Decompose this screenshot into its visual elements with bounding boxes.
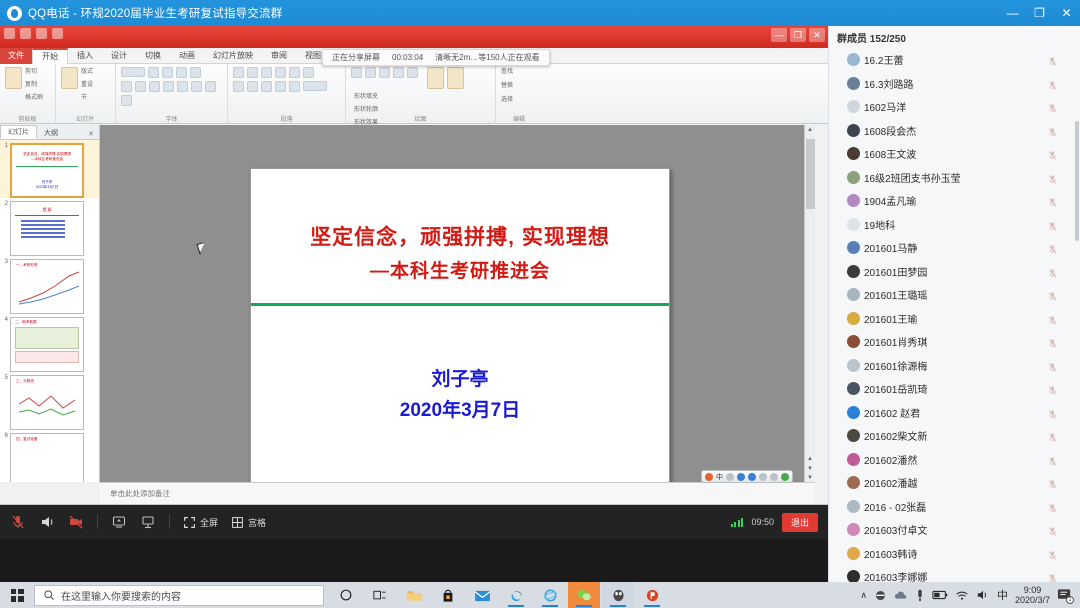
ribbon-group-paragraph-label: 段落 [228, 114, 345, 123]
fullscreen-icon [183, 516, 196, 529]
member-name: 16.3刘路路 [864, 76, 913, 91]
member-name: 16.2王蕾 [864, 52, 903, 67]
notes-pane[interactable]: 单击此处添加备注 [100, 482, 815, 504]
member-list-item[interactable]: 19地科 [829, 213, 1080, 237]
member-name: 1608王文波 [864, 146, 916, 161]
ribbon-group-clipboard-label: 剪贴板 [0, 114, 55, 123]
show-hidden-icons-icon[interactable]: ∧ [860, 590, 867, 601]
member-name: 201602 赵君 [864, 405, 920, 420]
avatar [847, 382, 860, 395]
avatar [847, 53, 860, 66]
member-name: 19地科 [864, 217, 895, 232]
section-label[interactable]: 节 [81, 93, 93, 104]
ime-indicator[interactable]: 中 [997, 587, 1008, 603]
task-view-icon [373, 589, 388, 602]
sogou-icon[interactable] [874, 589, 887, 602]
shape-oval-icon[interactable] [365, 67, 376, 78]
member-name: 1904孟凡瑜 [864, 193, 916, 208]
clear-formatting-icon[interactable] [190, 67, 201, 78]
slideshow-icon[interactable] [52, 28, 63, 39]
mic-muted-icon[interactable] [1047, 78, 1058, 89]
reset-label[interactable]: 重设 [81, 80, 93, 91]
thumbnail-slide-1[interactable]: 1 坚定信念，顽强拼搏,实现理想—本科生考研推进会 刘子亭2020年3月7日 [0, 140, 99, 198]
avatar [847, 124, 860, 137]
avatar [847, 312, 860, 325]
avatar [847, 335, 860, 348]
mic-muted-icon[interactable] [1047, 219, 1058, 230]
undo-icon[interactable] [20, 28, 31, 39]
ime-menu-icon[interactable] [781, 473, 789, 481]
avatar [847, 570, 860, 582]
thumbnail-preview: 四、复试准备 [10, 433, 84, 482]
mic-muted-icon[interactable] [1047, 360, 1058, 371]
taskbar-icon-group [330, 582, 668, 608]
avatar [847, 147, 860, 160]
taskbar-edge[interactable] [500, 582, 532, 608]
qq-call-control-bar: 全屏 宫格 09:50 退出 [0, 505, 828, 539]
select-label[interactable]: 选择 [501, 95, 537, 106]
presentation-icon[interactable] [140, 514, 156, 530]
member-list-item[interactable]: 201603李娜娜 [829, 565, 1080, 582]
thumbnail-number: 1 [2, 143, 10, 198]
replace-label[interactable]: 替换 [501, 81, 537, 92]
ribbon-group-clipboard: 剪切 复制 格式刷 剪贴板 [0, 64, 56, 124]
ribbon-group-font-label: 字体 [116, 114, 227, 123]
copy-label[interactable]: 复制 [25, 80, 43, 91]
edge-icon [509, 588, 524, 603]
windows-start-icon [11, 589, 24, 602]
ime-keyboard-icon[interactable] [759, 473, 767, 481]
taskbar-powerpoint[interactable] [636, 582, 668, 608]
close-button[interactable]: ✕ [1053, 0, 1080, 26]
columns-icon[interactable] [289, 81, 300, 92]
member-list-item[interactable]: 201601马静 [829, 236, 1080, 260]
member-list-item[interactable]: 201601徐源梅 [829, 354, 1080, 378]
member-list-item[interactable]: 201601王瑜 [829, 307, 1080, 331]
share-status-label: 正在分享屏幕 [332, 52, 380, 63]
thumbnail-title-text: 坚定信念，顽强拼搏,实现理想—本科生考研推进会 [12, 145, 82, 162]
mic-muted-icon[interactable] [1047, 195, 1058, 206]
avatar [847, 359, 860, 372]
character-spacing-icon[interactable] [191, 81, 202, 92]
member-list-scrollbar[interactable] [1075, 121, 1079, 241]
member-list-item[interactable]: 201602潘然 [829, 448, 1080, 472]
increase-font-size-icon[interactable] [162, 67, 173, 78]
bullets-icon[interactable] [233, 67, 244, 78]
font-family-selector[interactable] [121, 67, 145, 77]
avatar [847, 241, 860, 254]
justify-icon[interactable] [275, 81, 286, 92]
decrease-indent-icon[interactable] [261, 67, 272, 78]
clock-time: 9:09 [1015, 585, 1050, 595]
ribbon-group-editing: 查找 替换 选择 编辑 [496, 64, 542, 124]
cut-label[interactable]: 剪切 [25, 67, 43, 78]
shape-rect-icon[interactable] [351, 67, 362, 78]
mic-muted-icon[interactable] [1047, 172, 1058, 183]
slide-date: 2020年3月7日 [251, 395, 669, 426]
member-name: 201601田梦园 [864, 264, 927, 279]
save-icon[interactable] [4, 28, 15, 39]
window-controls: — ❐ ✕ [999, 0, 1080, 26]
screen-share-status-pill[interactable]: 正在分享屏幕 00:03:04 清晰无2m…等150人正在观看 [322, 49, 550, 66]
powerpoint-title-bar: — ❐ ✕ [0, 26, 828, 48]
redo-icon[interactable] [36, 28, 47, 39]
member-list-item[interactable]: 201601王璐瑶 [829, 283, 1080, 307]
slide-divider-rule [251, 303, 669, 306]
slide-author-block: 刘子亭 2020年3月7日 [251, 364, 669, 426]
member-list-item[interactable]: 1602马洋 [829, 95, 1080, 119]
text-direction-icon[interactable] [303, 67, 314, 78]
ime-mic-icon[interactable] [748, 473, 756, 481]
ribbon-tab-animation[interactable]: 动画 [170, 48, 204, 64]
share-screen-icon[interactable] [111, 514, 127, 530]
ppt-restore-button[interactable]: ❐ [790, 28, 806, 42]
format-painter-label[interactable]: 格式刷 [25, 93, 43, 104]
taskbar-mail[interactable] [466, 582, 498, 608]
decrease-font-size-icon[interactable] [176, 67, 187, 78]
window-title: QQ电话 - 环规2020届毕业生考研复试指导交流群 [28, 5, 282, 21]
thumbnail-preview: 坚定信念，顽强拼搏,实现理想—本科生考研推进会 刘子亭2020年3月7日 [10, 143, 84, 198]
member-name: 201602潘越 [864, 475, 917, 490]
internet-explorer-icon [543, 588, 558, 603]
mouse-cursor-icon [196, 242, 206, 255]
find-label[interactable]: 查找 [501, 67, 537, 78]
thumbnail-preview: 一、考研形势 [10, 259, 84, 314]
exit-call-button[interactable]: 退出 [782, 513, 818, 532]
usb-icon[interactable] [915, 589, 925, 602]
mic-muted-icon[interactable] [1047, 477, 1058, 488]
powerpoint-icon [645, 588, 660, 603]
thumbnail-number: 6 [2, 433, 10, 482]
thumbnail-number: 4 [2, 317, 10, 372]
thumbnail-number: 3 [2, 259, 10, 314]
member-list-item[interactable]: 201602柴文新 [829, 424, 1080, 448]
ribbon-tab-file[interactable]: 文件 [0, 48, 32, 64]
member-name: 201603付卓文 [864, 522, 927, 537]
mic-muted-icon[interactable] [1047, 101, 1058, 112]
member-list-item[interactable]: 1904孟凡瑜 [829, 189, 1080, 213]
shape-line-icon[interactable] [393, 67, 404, 78]
mic-muted-icon[interactable] [1047, 289, 1058, 300]
ribbon-tab-slideshow[interactable]: 幻灯片放映 [204, 48, 262, 64]
cortana-button[interactable] [330, 582, 362, 608]
mail-icon [474, 589, 491, 602]
taskbar-qq[interactable] [602, 582, 634, 608]
mic-muted-icon[interactable] [1047, 266, 1058, 277]
quick-access-toolbar[interactable] [4, 28, 63, 39]
member-list-item[interactable]: 201603付卓文 [829, 518, 1080, 542]
wifi-icon[interactable] [955, 590, 969, 601]
microsoft-store-icon [441, 588, 455, 603]
avatar [847, 218, 860, 231]
italic-icon[interactable] [135, 81, 146, 92]
bold-icon[interactable] [121, 81, 132, 92]
member-name: 201601徐源梅 [864, 358, 927, 373]
ime-skin-icon[interactable] [770, 473, 778, 481]
search-icon [43, 589, 55, 601]
slide-thumbnail-panel: 幻灯片 大纲 ✕ 1 坚定信念，顽强拼搏,实现理想—本科生考研推进会 刘子亭20… [0, 125, 100, 482]
restore-button[interactable]: ❐ [1026, 0, 1053, 26]
powerpoint-window: — ❐ ✕ 文件 开始 插入 设计 切换 动画 幻灯片放映 审阅 视图 [0, 26, 828, 505]
member-list-item[interactable]: 16级2班团支书孙玉莹 [829, 166, 1080, 190]
fullscreen-button[interactable]: 全屏 [183, 516, 218, 529]
ribbon-tab-insert[interactable]: 插入 [68, 48, 102, 64]
divider [97, 515, 98, 529]
share-duration: 00:03:04 [392, 53, 423, 62]
close-thumbnail-panel-icon[interactable]: ✕ [83, 129, 99, 139]
member-name: 1608段会杰 [864, 123, 916, 138]
convert-to-smartart-icon[interactable] [303, 81, 327, 91]
ppt-close-button[interactable]: ✕ [809, 28, 825, 42]
member-list[interactable]: 16.2王蕾16.3刘路路1602马洋1608段会杰1608王文波16级2班团支… [829, 48, 1080, 582]
shape-arrow-icon[interactable] [379, 67, 390, 78]
increase-indent-icon[interactable] [275, 67, 286, 78]
align-center-icon[interactable] [247, 81, 258, 92]
change-case-icon[interactable] [205, 81, 216, 92]
mic-muted-icon[interactable] [1047, 125, 1058, 136]
member-list-item[interactable]: 201601肖秀琪 [829, 330, 1080, 354]
line-spacing-icon[interactable] [289, 67, 300, 78]
ribbon-tab-review[interactable]: 审阅 [262, 48, 296, 64]
mic-muted-icon[interactable] [1047, 242, 1058, 253]
member-list-item[interactable]: 16.2王蕾 [829, 48, 1080, 72]
slide-author-name: 刘子亭 [251, 364, 669, 395]
battery-icon[interactable] [932, 590, 948, 600]
shape-fill-label[interactable]: 形状填充 [354, 92, 378, 103]
grid-label: 宫格 [248, 516, 266, 529]
member-name: 201602柴文新 [864, 428, 927, 443]
member-name: 201603韩诗 [864, 546, 917, 561]
shared-screen-area: — ❐ ✕ 文件 开始 插入 设计 切换 动画 幻灯片放映 审阅 视图 [0, 26, 828, 539]
slide-title-line1: 坚定信念，顽强拼搏, 实现理想 [251, 221, 669, 255]
member-name: 201601肖秀琪 [864, 334, 927, 349]
avatar [847, 523, 860, 536]
tab-slides[interactable]: 幻灯片 [0, 125, 37, 139]
mic-muted-icon[interactable] [1047, 336, 1058, 347]
scrollbar-thumb[interactable] [806, 139, 815, 209]
scroll-up-arrow-icon[interactable]: ▲ [807, 127, 813, 133]
thumbnail-slide-2[interactable]: 2 提 纲 [0, 198, 99, 256]
strikethrough-icon[interactable] [177, 81, 188, 92]
text-shadow-icon[interactable] [163, 81, 174, 92]
ribbon-group-font: 字体 [116, 64, 228, 124]
thumbnail-preview: 三、分数线 [10, 375, 84, 430]
mic-muted-icon[interactable] [1047, 501, 1058, 512]
mic-muted-icon[interactable] [1047, 407, 1058, 418]
underline-icon[interactable] [149, 81, 160, 92]
camera-muted-icon[interactable] [68, 514, 84, 530]
thumbnail-preview: 提 纲 [10, 201, 84, 256]
wechat-icon [576, 588, 592, 602]
slide-vertical-scrollbar[interactable]: ▲ ▲ ▼ ▼ [804, 125, 815, 482]
ribbon-group-drawing: 形状填充 形状轮廓 形状效果 绘图 [346, 64, 496, 124]
volume-icon[interactable] [976, 589, 990, 601]
action-center-button[interactable]: 1 [1057, 588, 1072, 602]
call-duration: 09:50 [751, 517, 774, 527]
avatar [847, 194, 860, 207]
thumbnail-author-text: 刘子亭2020年3月7日 [12, 167, 82, 190]
ribbon-tab-home[interactable]: 开始 [32, 48, 68, 64]
mic-muted-icon[interactable] [1047, 454, 1058, 465]
mic-muted-icon[interactable] [1047, 430, 1058, 441]
thumbnail-heading: 提 纲 [11, 202, 83, 213]
numbering-icon[interactable] [247, 67, 258, 78]
taskbar-internet-explorer[interactable] [534, 582, 566, 608]
thumbnail-number: 5 [2, 375, 10, 430]
qq-title-bar: QQ电话 - 环规2020届毕业生考研复试指导交流群 — ❐ ✕ [0, 0, 1080, 26]
member-list-item[interactable]: 1608王文波 [829, 142, 1080, 166]
member-list-item[interactable]: 201601岳凯琦 [829, 377, 1080, 401]
avatar [847, 100, 860, 113]
avatar [847, 406, 860, 419]
thumbnail-bullets [11, 216, 83, 238]
align-left-icon[interactable] [233, 81, 244, 92]
mic-muted-icon[interactable] [1047, 54, 1058, 65]
slide-title-line2: —本科生考研推进会 [251, 255, 669, 289]
mic-muted-icon[interactable] [1047, 548, 1058, 559]
scroll-down-arrow-icon[interactable]: ▼ [807, 475, 813, 481]
group-member-panel: 群成员 152/250 16.2王蕾16.3刘路路1602马洋1608段会杰16… [828, 26, 1080, 582]
font-color-icon[interactable] [121, 95, 132, 106]
ribbon-body: 剪切 复制 格式刷 剪贴板 版式 重设 节 [0, 64, 828, 124]
avatar [847, 476, 860, 489]
taskbar-microsoft-store[interactable] [432, 582, 464, 608]
ime-pen-icon[interactable] [726, 473, 734, 481]
tab-outline[interactable]: 大纲 [37, 127, 65, 139]
ime-emoji-icon[interactable] [737, 473, 745, 481]
qq-icon [611, 588, 626, 603]
thumbnail-list[interactable]: 1 坚定信念，顽强拼搏,实现理想—本科生考研推进会 刘子亭2020年3月7日 2… [0, 140, 99, 482]
mic-muted-icon[interactable] [1047, 313, 1058, 324]
member-list-item[interactable]: 16.3刘路路 [829, 72, 1080, 96]
member-list-item[interactable]: 201601田梦园 [829, 260, 1080, 284]
start-button[interactable] [0, 582, 34, 608]
avatar [847, 265, 860, 278]
file-explorer-icon [406, 588, 423, 602]
powerpoint-window-controls[interactable]: — ❐ ✕ [771, 28, 825, 42]
sogou-ime-toolbar[interactable]: 中 [701, 470, 793, 483]
taskbar-search-box[interactable]: 在这里输入你要搜索的内容 [34, 585, 324, 606]
clock-date: 2020/3/7 [1015, 595, 1050, 605]
avatar [847, 500, 860, 513]
avatar [847, 453, 860, 466]
font-size-selector[interactable] [148, 67, 159, 78]
divider [169, 515, 170, 529]
member-name: 16级2班团支书孙玉莹 [864, 170, 961, 185]
align-right-icon[interactable] [261, 81, 272, 92]
ribbon-group-drawing-label: 绘图 [346, 114, 495, 123]
shape-triangle-icon[interactable] [407, 67, 418, 78]
search-placeholder: 在这里输入你要搜索的内容 [61, 588, 181, 603]
onedrive-icon[interactable] [894, 590, 908, 601]
member-name: 201601王瑜 [864, 311, 917, 326]
member-name: 2016 - 02张磊 [864, 499, 926, 514]
notification-count: 1 [1066, 596, 1074, 604]
paste-icon[interactable] [5, 67, 22, 89]
member-list-item[interactable]: 1608段会杰 [829, 119, 1080, 143]
slide-title: 坚定信念，顽强拼搏, 实现理想 —本科生考研推进会 [251, 221, 669, 289]
member-panel-header: 群成员 152/250 [829, 26, 1080, 48]
qq-logo-icon [7, 6, 22, 21]
taskbar-wechat[interactable] [568, 582, 600, 608]
mic-muted-icon[interactable] [1047, 148, 1058, 159]
slide-editing-area[interactable]: 坚定信念，顽强拼搏, 实现理想 —本科生考研推进会 刘子亭 2020年3月7日 … [100, 125, 815, 482]
thumbnail-preview: 二、报考数据 [10, 317, 84, 372]
avatar [847, 429, 860, 442]
task-view-button[interactable] [364, 582, 396, 608]
next-slide-arrow-icon[interactable]: ▼ [807, 466, 813, 472]
ribbon-group-paragraph: 段落 [228, 64, 346, 124]
sogou-logo-icon[interactable] [705, 473, 713, 481]
ribbon-group-slides-label: 幻灯片 [56, 114, 115, 123]
minimize-button[interactable]: — [999, 0, 1026, 26]
thumbnail-slide-5[interactable]: 5 三、分数线 [0, 372, 99, 430]
cortana-circle-icon [339, 588, 353, 602]
layout-label[interactable]: 版式 [81, 67, 93, 78]
ribbon-group-editing-label: 编辑 [496, 114, 542, 123]
avatar [847, 547, 860, 560]
ribbon-tab-design[interactable]: 设计 [102, 48, 136, 64]
mic-muted-icon[interactable] [1047, 571, 1058, 582]
previous-slide-arrow-icon[interactable]: ▲ [807, 456, 813, 462]
member-list-item[interactable]: 2016 - 02张磊 [829, 495, 1080, 519]
new-slide-icon[interactable] [61, 67, 78, 89]
microphone-muted-icon[interactable] [10, 514, 26, 530]
ppt-minimize-button[interactable]: — [771, 28, 787, 42]
member-name: 1602马洋 [864, 99, 906, 114]
network-signal-icon [731, 517, 744, 527]
thumbnail-slide-6[interactable]: 6 四、复试准备 [0, 430, 99, 482]
member-name: 201602潘然 [864, 452, 917, 467]
arrange-icon[interactable] [427, 67, 444, 89]
member-list-item[interactable]: 201603韩诗 [829, 542, 1080, 566]
share-viewers: 清晰无2m…等150人正在观看 [435, 52, 539, 63]
grid-view-button[interactable]: 宫格 [231, 516, 266, 529]
taskbar-file-explorer[interactable] [398, 582, 430, 608]
thumbnail-slide-4[interactable]: 4 二、报考数据 [0, 314, 99, 372]
speaker-icon[interactable] [39, 514, 55, 530]
member-name: 201601马静 [864, 240, 917, 255]
member-list-item[interactable]: 201602 赵君 [829, 401, 1080, 425]
thumbnail-number: 2 [2, 201, 10, 256]
grid-icon [231, 516, 244, 529]
member-list-item[interactable]: 201602潘越 [829, 471, 1080, 495]
taskbar-clock[interactable]: 9:09 2020/3/7 [1015, 585, 1050, 605]
ribbon-group-slides: 版式 重设 节 幻灯片 [56, 64, 116, 124]
avatar [847, 171, 860, 184]
ribbon-tab-transition[interactable]: 切换 [136, 48, 170, 64]
current-slide[interactable]: 坚定信念，顽强拼搏, 实现理想 —本科生考研推进会 刘子亭 2020年3月7日 [250, 168, 670, 483]
call-bar-right-group: 09:50 退出 [731, 513, 818, 532]
member-name: 201603李娜娜 [864, 569, 927, 582]
thumbnail-tab-strip[interactable]: 幻灯片 大纲 ✕ [0, 125, 99, 140]
ime-mode-indicator[interactable]: 中 [716, 472, 723, 482]
mic-muted-icon[interactable] [1047, 383, 1058, 394]
member-name: 201601岳凯琦 [864, 381, 927, 396]
member-name: 201601王璐瑶 [864, 287, 927, 302]
avatar [847, 288, 860, 301]
mic-muted-icon[interactable] [1047, 524, 1058, 535]
thumbnail-slide-3[interactable]: 3 一、考研形势 [0, 256, 99, 314]
quick-styles-icon[interactable] [447, 67, 464, 89]
system-tray: ∧ 中 9:09 [860, 585, 1080, 605]
windows-taskbar: 在这里输入你要搜索的内容 [0, 582, 1080, 608]
fullscreen-label: 全屏 [200, 516, 218, 529]
avatar [847, 77, 860, 90]
